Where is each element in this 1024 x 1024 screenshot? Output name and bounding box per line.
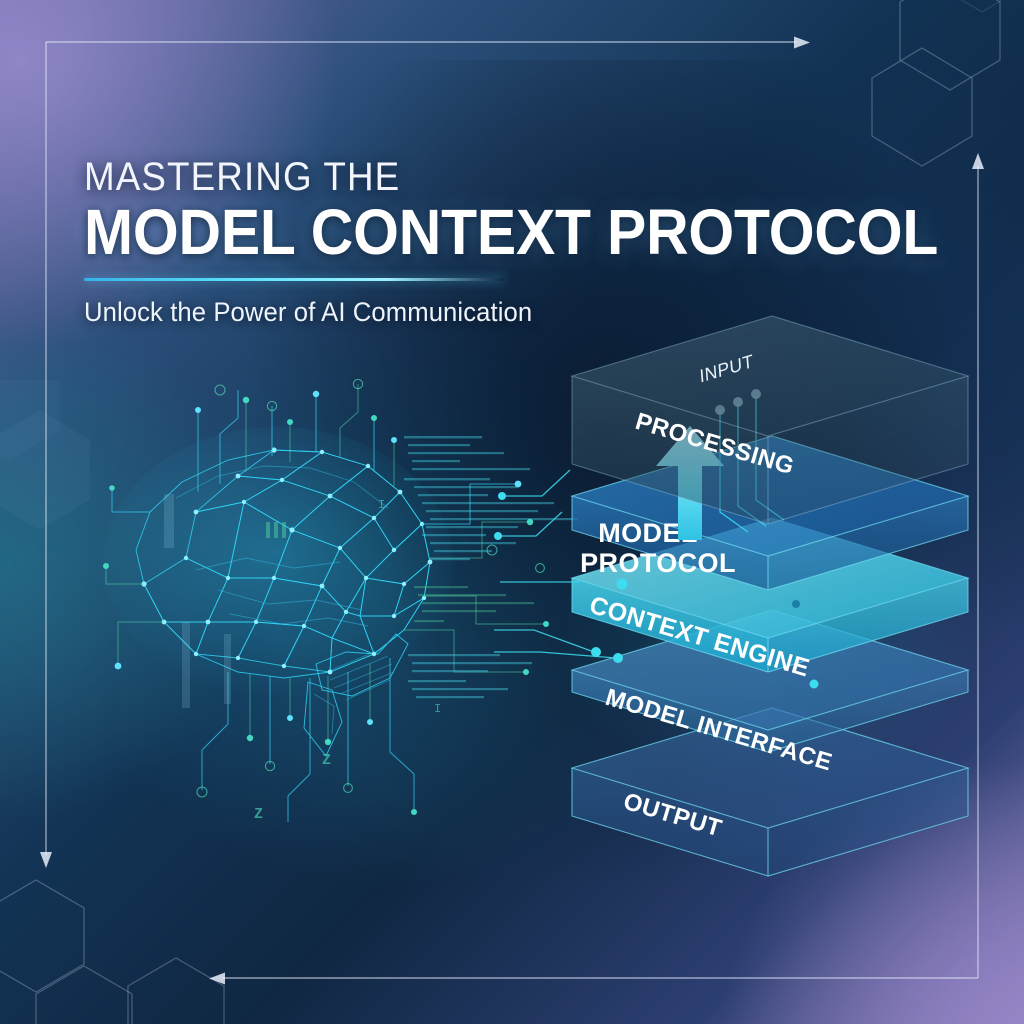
arrow-top-right (794, 37, 810, 49)
hex-tr-2 (872, 48, 972, 166)
brain-glow (103, 427, 453, 697)
hex-l-faint-2 (0, 380, 60, 460)
circuit-glyph-i-1: I (434, 702, 441, 716)
accent-rule (84, 278, 504, 281)
hex-bl-2 (36, 966, 132, 1024)
circuit-glyph-z-2: Z (254, 806, 263, 823)
circuit-glyph-bars (266, 522, 286, 538)
arrow-right-up (972, 153, 984, 169)
connector-node-ctx-2 (792, 600, 800, 608)
hex-l-faint (0, 410, 90, 530)
layer-label-model-protocol-line2: PROTOCOL (580, 548, 736, 578)
hex-tr-3 (932, 0, 1024, 12)
hex-bl-3 (128, 958, 224, 1024)
poster-canvas: MASTERING THE MODEL CONTEXT PROTOCOL Unl… (0, 0, 1024, 1024)
arrow-bottom-left (209, 973, 225, 985)
circuit-glyph-z-1: Z (322, 752, 331, 769)
connector-node-iface-3 (810, 680, 819, 689)
connector-node-ctx-1 (617, 579, 628, 590)
page-title: MODEL CONTEXT PROTOCOL (84, 200, 838, 264)
arrow-left-down (40, 852, 52, 868)
hex-tr-1 (900, 0, 1000, 90)
hex-bl-1 (0, 880, 84, 992)
brain-artwork: Z Z I I (78, 372, 598, 832)
circuit-glyph-i-2: I (378, 498, 385, 512)
kicker-text: MASTERING THE (84, 156, 838, 198)
layer-stack-diagram: OUTPUT MODEL INTERFACE (560, 300, 980, 880)
hexagon-cluster-bottom-left (0, 860, 310, 1024)
